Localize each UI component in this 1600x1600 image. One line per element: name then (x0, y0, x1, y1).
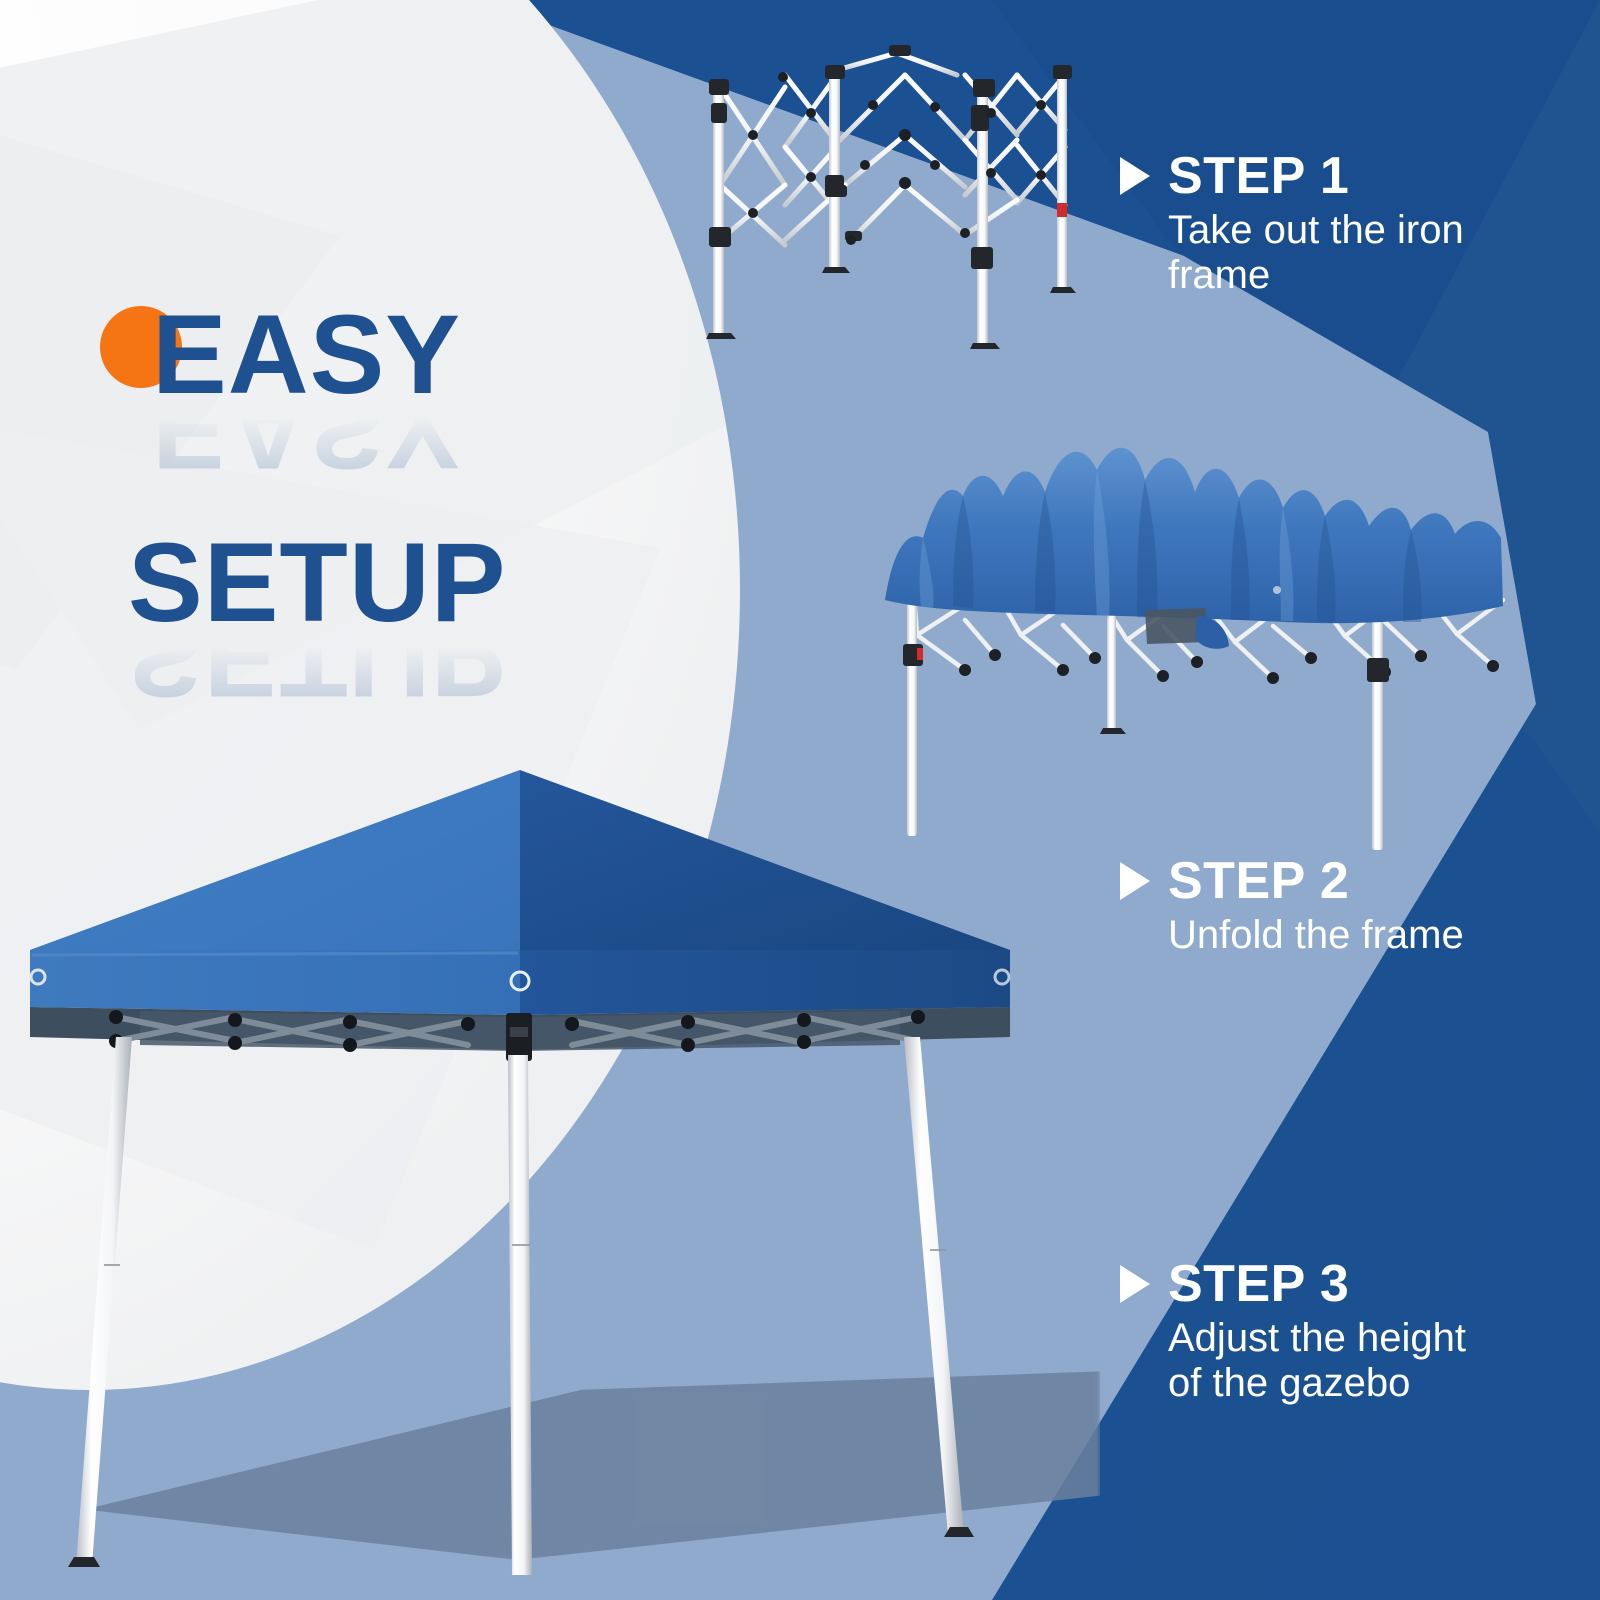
step-1-description: Take out the iron frame (1168, 208, 1520, 298)
poster-title: EASY EASY SETUP SETUP (100, 300, 720, 712)
step-3-description-line-2: of the gazebo (1168, 1361, 1520, 1406)
step-1-description-line-1: Take out the iron (1168, 208, 1520, 253)
gazebo-leg-left (76, 1037, 132, 1565)
step-1-header: STEP 1 (1120, 150, 1520, 202)
step-2-block: STEP 2 Unfold the frame (1120, 855, 1520, 958)
title-line-2-reflection: SETUP (100, 640, 720, 712)
title-line-1: EASY (100, 300, 720, 410)
gazebo-leg-center (508, 1055, 532, 1575)
canopy-roof-right (520, 770, 1010, 950)
step3-illustration-assembled-gazebo (20, 745, 1020, 1575)
step1-illustration-iron-frame (665, 35, 1085, 375)
infographic-poster: EASY EASY SETUP SETUP (0, 0, 1600, 1600)
step-3-description-line-1: Adjust the height (1168, 1316, 1520, 1361)
canopy-valance-right (520, 950, 1010, 1015)
play-triangle-icon (1120, 157, 1150, 195)
title-line-1-reflection: EASY (100, 412, 720, 484)
step-3-block: STEP 3 Adjust the height of the gazebo (1120, 1258, 1520, 1406)
gazebo-leg-right (904, 1037, 964, 1535)
step-3-description: Adjust the height of the gazebo (1168, 1316, 1520, 1406)
step-1-description-line-2: frame (1168, 253, 1520, 298)
step-3-header: STEP 3 (1120, 1258, 1520, 1310)
canopy-valance-left (30, 950, 520, 1015)
step-1-title: STEP 1 (1168, 150, 1349, 202)
step-2-header: STEP 2 (1120, 855, 1520, 907)
step-2-description-line-1: Unfold the frame (1168, 913, 1520, 958)
play-triangle-icon (1120, 862, 1150, 900)
title-line-2: SETUP (100, 528, 720, 638)
step-2-title: STEP 2 (1168, 855, 1349, 907)
step-3-title: STEP 3 (1168, 1258, 1349, 1310)
play-triangle-icon (1120, 1265, 1150, 1303)
step-2-description: Unfold the frame (1168, 913, 1520, 958)
step-1-block: STEP 1 Take out the iron frame (1120, 150, 1520, 298)
